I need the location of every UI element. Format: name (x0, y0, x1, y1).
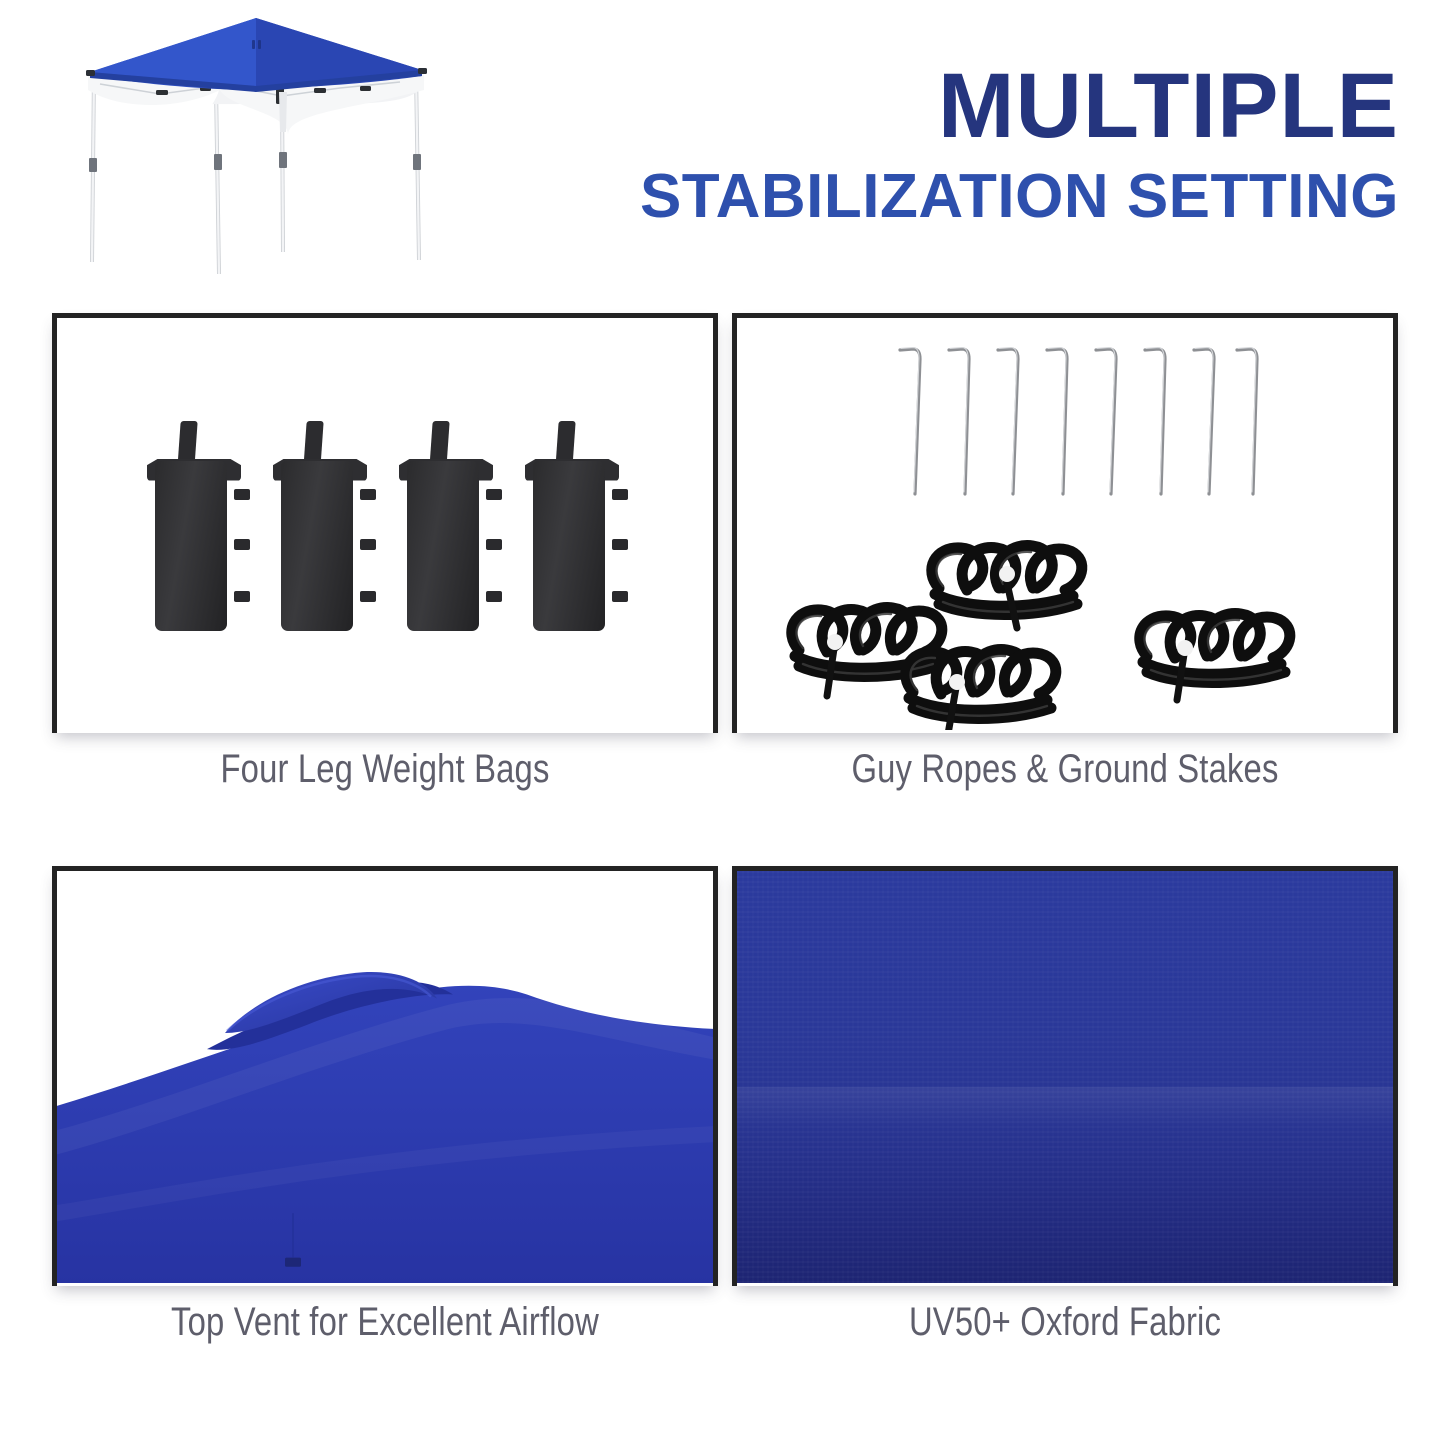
panel-caption-ropes-stakes: Guy Ropes & Ground Stakes (792, 747, 1338, 792)
header: MULTIPLE STABILIZATION SETTING (0, 0, 1445, 300)
photo-frame-ropes-stakes (732, 313, 1398, 733)
fabric-swatch-icon (737, 871, 1393, 1286)
weight-bag-item (407, 421, 489, 631)
ground-stakes-group (737, 342, 1393, 522)
feature-panel-weight-bags: Four Leg Weight Bags (52, 313, 718, 813)
weight-bag-icon (57, 318, 713, 733)
ground-stake-icon (737, 318, 1393, 733)
feature-panel-ropes-stakes: Guy Ropes & Ground Stakes (732, 313, 1398, 813)
guy-rope-coil (887, 622, 1087, 733)
weight-bag-item (281, 421, 363, 631)
canopy-vent-icon (57, 871, 713, 1286)
pop-up-canopy-illustration (60, 12, 480, 287)
heading-block: MULTIPLE STABILIZATION SETTING (640, 58, 1399, 232)
page-subtitle: STABILIZATION SETTING (640, 161, 1399, 232)
panel-caption-top-vent: Top Vent for Excellent Airflow (112, 1300, 658, 1345)
guy-ropes-group (737, 514, 1393, 733)
photo-frame-weight-bags (52, 313, 718, 733)
feature-panel-top-vent: Top Vent for Excellent Airflow (52, 866, 718, 1366)
photo-frame-oxford-fabric (732, 866, 1398, 1286)
panel-caption-oxford-fabric: UV50+ Oxford Fabric (792, 1300, 1338, 1345)
weight-bag-item (155, 421, 237, 631)
guy-rope-coil (1121, 586, 1321, 706)
panel-caption-weight-bags: Four Leg Weight Bags (112, 747, 658, 792)
photo-frame-top-vent (52, 866, 718, 1286)
weight-bag-item (533, 421, 615, 631)
feature-panel-oxford-fabric: UV50+ Oxford Fabric (732, 866, 1398, 1366)
page-title: MULTIPLE (640, 58, 1399, 155)
